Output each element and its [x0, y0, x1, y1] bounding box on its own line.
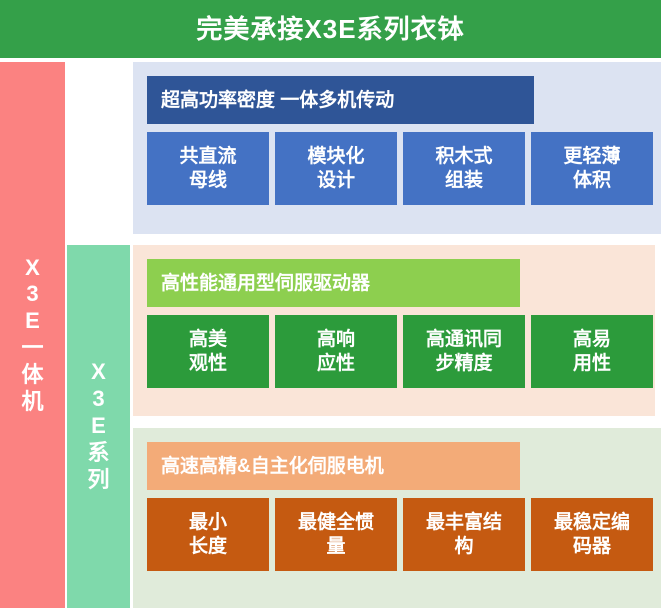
card-orange-2[interactable]: 最健全惯量 — [275, 498, 397, 571]
panel-green-header-text: 高性能通用型伺服驱动器 — [161, 274, 370, 293]
card-orange-3[interactable]: 最丰富结构 — [403, 498, 525, 571]
card-blue-1[interactable]: 共直流母线 — [147, 132, 269, 205]
panel-blue-header-text: 超高功率密度 一体多机传动 — [161, 91, 394, 110]
panel-orange-header-text: 高速高精&自主化伺服电机 — [161, 457, 384, 476]
card-green-2-label: 高响应性 — [317, 328, 355, 374]
title-banner: 完美承接X3E系列衣钵 — [0, 0, 661, 58]
side-label-x3e-series: X3E系列 — [67, 245, 130, 608]
card-orange-2-label: 最健全惯量 — [298, 511, 374, 557]
side-label-x3e-series-text: X3E系列 — [86, 359, 112, 493]
card-blue-2-label: 模块化设计 — [307, 145, 364, 191]
card-blue-4[interactable]: 更轻薄体积 — [531, 132, 653, 205]
panel-green-header: 高性能通用型伺服驱动器 — [147, 259, 520, 307]
panel-high-speed-servo-motor: 高速高精&自主化伺服电机 最小长度 最健全惯量 最丰富结构 最稳定编码器 — [133, 428, 661, 608]
card-orange-4-label: 最稳定编码器 — [554, 511, 630, 557]
card-green-3[interactable]: 高通讯同步精度 — [403, 315, 525, 388]
card-orange-3-label: 最丰富结构 — [426, 511, 502, 557]
card-blue-2[interactable]: 模块化设计 — [275, 132, 397, 205]
card-orange-4[interactable]: 最稳定编码器 — [531, 498, 653, 571]
card-green-1-label: 高美观性 — [189, 328, 227, 374]
infographic-root: 完美承接X3E系列衣钵 X3E一体机 X3E系列 超高功率密度 一体多机传动 共… — [0, 0, 661, 608]
card-blue-4-label: 更轻薄体积 — [563, 145, 620, 191]
panel-orange-card-row: 最小长度 最健全惯量 最丰富结构 最稳定编码器 — [147, 498, 653, 571]
card-green-3-label: 高通讯同步精度 — [426, 328, 502, 374]
page-title: 完美承接X3E系列衣钵 — [196, 16, 464, 42]
panel-blue-card-row: 共直流母线 模块化设计 积木式组装 更轻薄体积 — [147, 132, 653, 205]
card-blue-1-label: 共直流母线 — [179, 145, 236, 191]
panel-green-card-row: 高美观性 高响应性 高通讯同步精度 高易用性 — [147, 315, 653, 388]
panel-ultra-high-power-density: 超高功率密度 一体多机传动 共直流母线 模块化设计 积木式组装 更轻薄体积 — [133, 62, 661, 234]
card-green-4[interactable]: 高易用性 — [531, 315, 653, 388]
card-orange-1-label: 最小长度 — [189, 511, 227, 557]
panel-orange-header: 高速高精&自主化伺服电机 — [147, 442, 520, 490]
panel-blue-header: 超高功率密度 一体多机传动 — [147, 76, 534, 124]
panel-high-performance-servo-driver: 高性能通用型伺服驱动器 高美观性 高响应性 高通讯同步精度 高易用性 — [133, 245, 655, 416]
side-label-x3e-all-in-one-text: X3E一体机 — [20, 255, 46, 416]
card-green-2[interactable]: 高响应性 — [275, 315, 397, 388]
side-label-x3e-all-in-one: X3E一体机 — [0, 62, 65, 608]
card-green-4-label: 高易用性 — [573, 328, 611, 374]
card-green-1[interactable]: 高美观性 — [147, 315, 269, 388]
card-blue-3[interactable]: 积木式组装 — [403, 132, 525, 205]
card-orange-1[interactable]: 最小长度 — [147, 498, 269, 571]
card-blue-3-label: 积木式组装 — [435, 145, 492, 191]
